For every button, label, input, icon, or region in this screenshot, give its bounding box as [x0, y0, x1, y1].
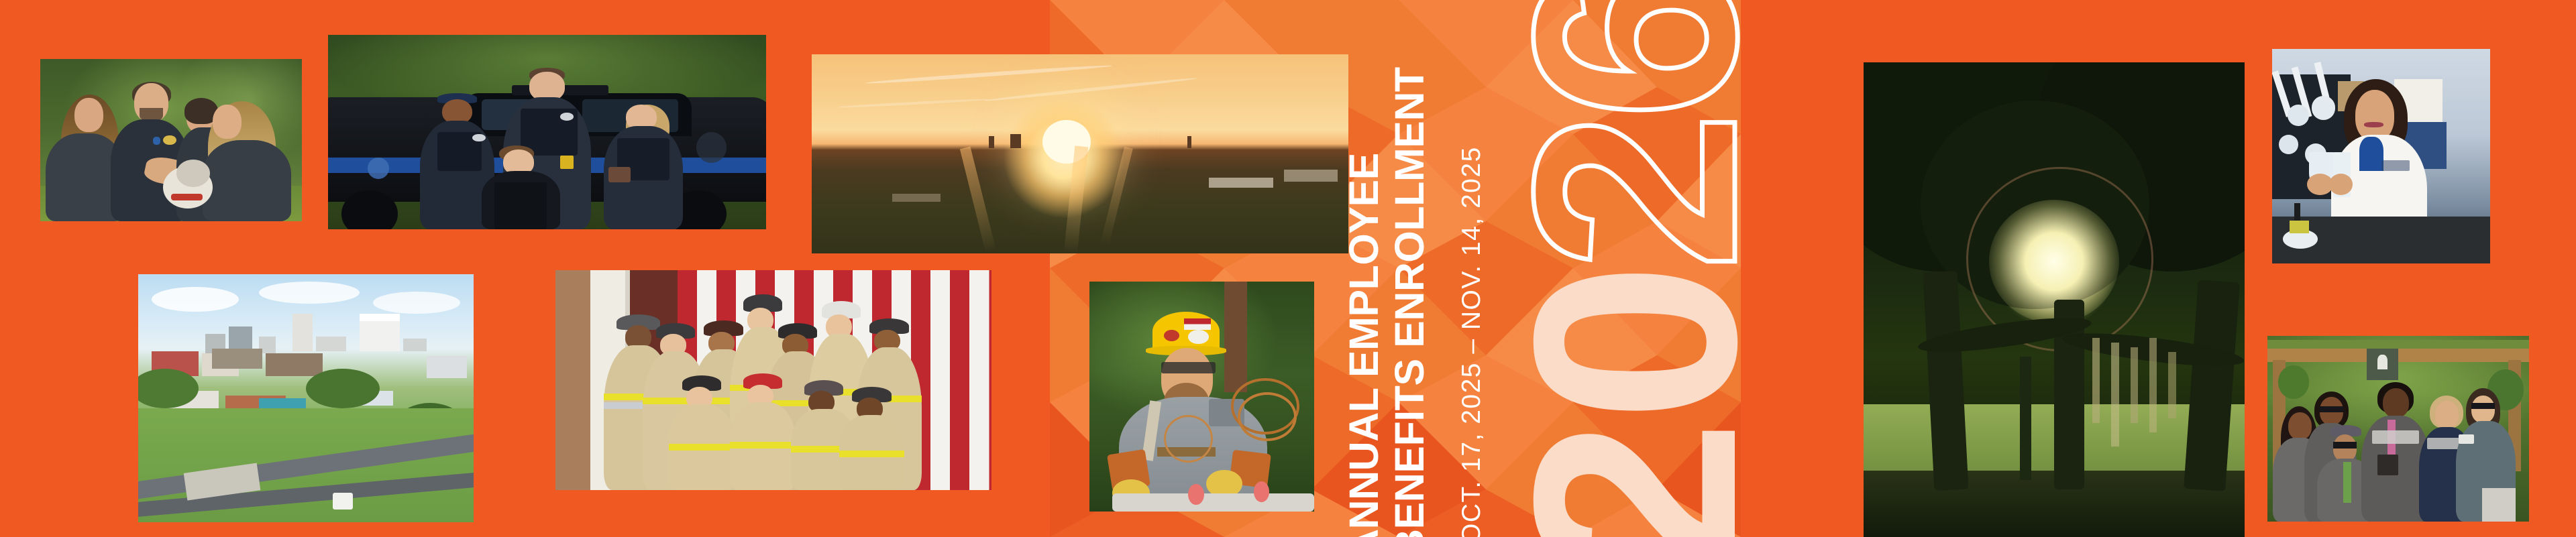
photo-tallahassee-skyline-cascades-park — [138, 274, 474, 522]
photo-scene — [2272, 49, 2490, 263]
photo-scene — [40, 59, 302, 221]
photo-scene — [328, 35, 766, 229]
photo-scene — [812, 54, 1348, 253]
photo-firefighter-crew-with-flag — [555, 270, 991, 490]
enrollment-banner: ANNUAL EMPLOYEE BENEFITS ENROLLMENT OCT.… — [0, 0, 2576, 537]
photo-live-oaks-with-sun-flare — [1864, 62, 2245, 537]
photo-sunset-over-city-treeline — [812, 54, 1348, 253]
photo-scene — [555, 270, 991, 490]
year-2026: 2 0 2 6 — [1515, 0, 1756, 537]
photo-scene — [2267, 336, 2529, 522]
photo-scene — [1089, 282, 1314, 512]
photo-scene — [138, 274, 474, 522]
headline-line-1: ANNUAL EMPLOYEE — [1344, 153, 1385, 537]
photo-electric-lineworker — [1089, 282, 1314, 512]
year-digit-6: 6 — [1491, 0, 1780, 161]
photo-animal-control-officers-with-dog — [40, 59, 302, 221]
photo-scene — [1864, 62, 2245, 537]
photo-police-officers-with-cruiser — [328, 35, 766, 229]
headline-line-2: BENEFITS ENROLLMENT — [1389, 67, 1430, 537]
photo-water-quality-lab-scientist — [2272, 49, 2490, 263]
photo-employee-volunteer-group — [2267, 336, 2529, 522]
